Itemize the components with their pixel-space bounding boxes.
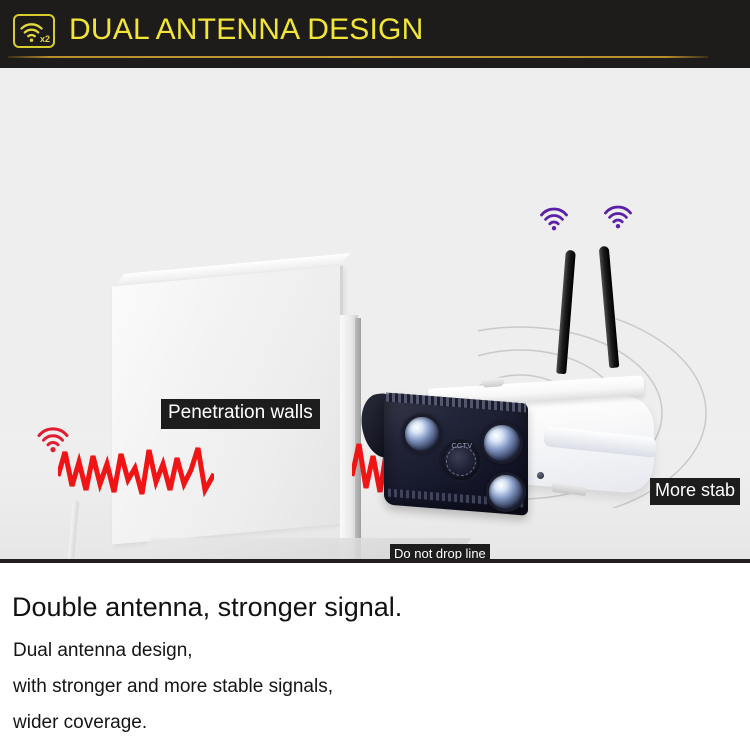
camera-ir-led-3 (486, 472, 526, 512)
header-divider-rule (8, 56, 708, 58)
product-feature-banner: x2 DUAL ANTENNA DESIGN LINK (0, 0, 750, 750)
camera-antenna-left (556, 250, 576, 374)
copy-line-1: Dual antenna design, (13, 639, 193, 662)
ip-camera: CCTV (356, 236, 656, 406)
camera-lens-marking: CCTV (448, 443, 476, 450)
wifi-icon (36, 426, 70, 454)
header-band: x2 DUAL ANTENNA DESIGN (0, 0, 750, 68)
copy-section: Double antenna, stronger signal. Dual an… (0, 567, 750, 750)
wifi-badge-multiplier: x2 (40, 35, 50, 44)
wifi-icon (539, 206, 569, 232)
camera-shield-knob (482, 377, 504, 388)
scene-bottom-divider (0, 559, 750, 563)
wifi-router: LINK (0, 498, 170, 563)
copy-line-2: with stronger and more stable signals, (13, 675, 333, 698)
router-antenna-right (67, 500, 79, 563)
camera-antenna-right (599, 246, 620, 368)
header-title: DUAL ANTENNA DESIGN (69, 13, 423, 47)
wifi-icon (603, 204, 633, 230)
wifi-x2-badge: x2 (13, 14, 55, 48)
camera-ir-led-2 (481, 422, 523, 464)
label-more-stable: More stab (650, 478, 740, 505)
camera-screw (537, 472, 544, 479)
copy-headline: Double antenna, stronger signal. (12, 591, 402, 623)
copy-line-3: wider coverage. (13, 711, 147, 734)
illustration-scene: LINK (0, 68, 750, 563)
camera-lens-ring (446, 446, 476, 476)
camera-ir-led-1 (402, 414, 442, 454)
label-penetration-walls: Penetration walls (161, 399, 320, 429)
